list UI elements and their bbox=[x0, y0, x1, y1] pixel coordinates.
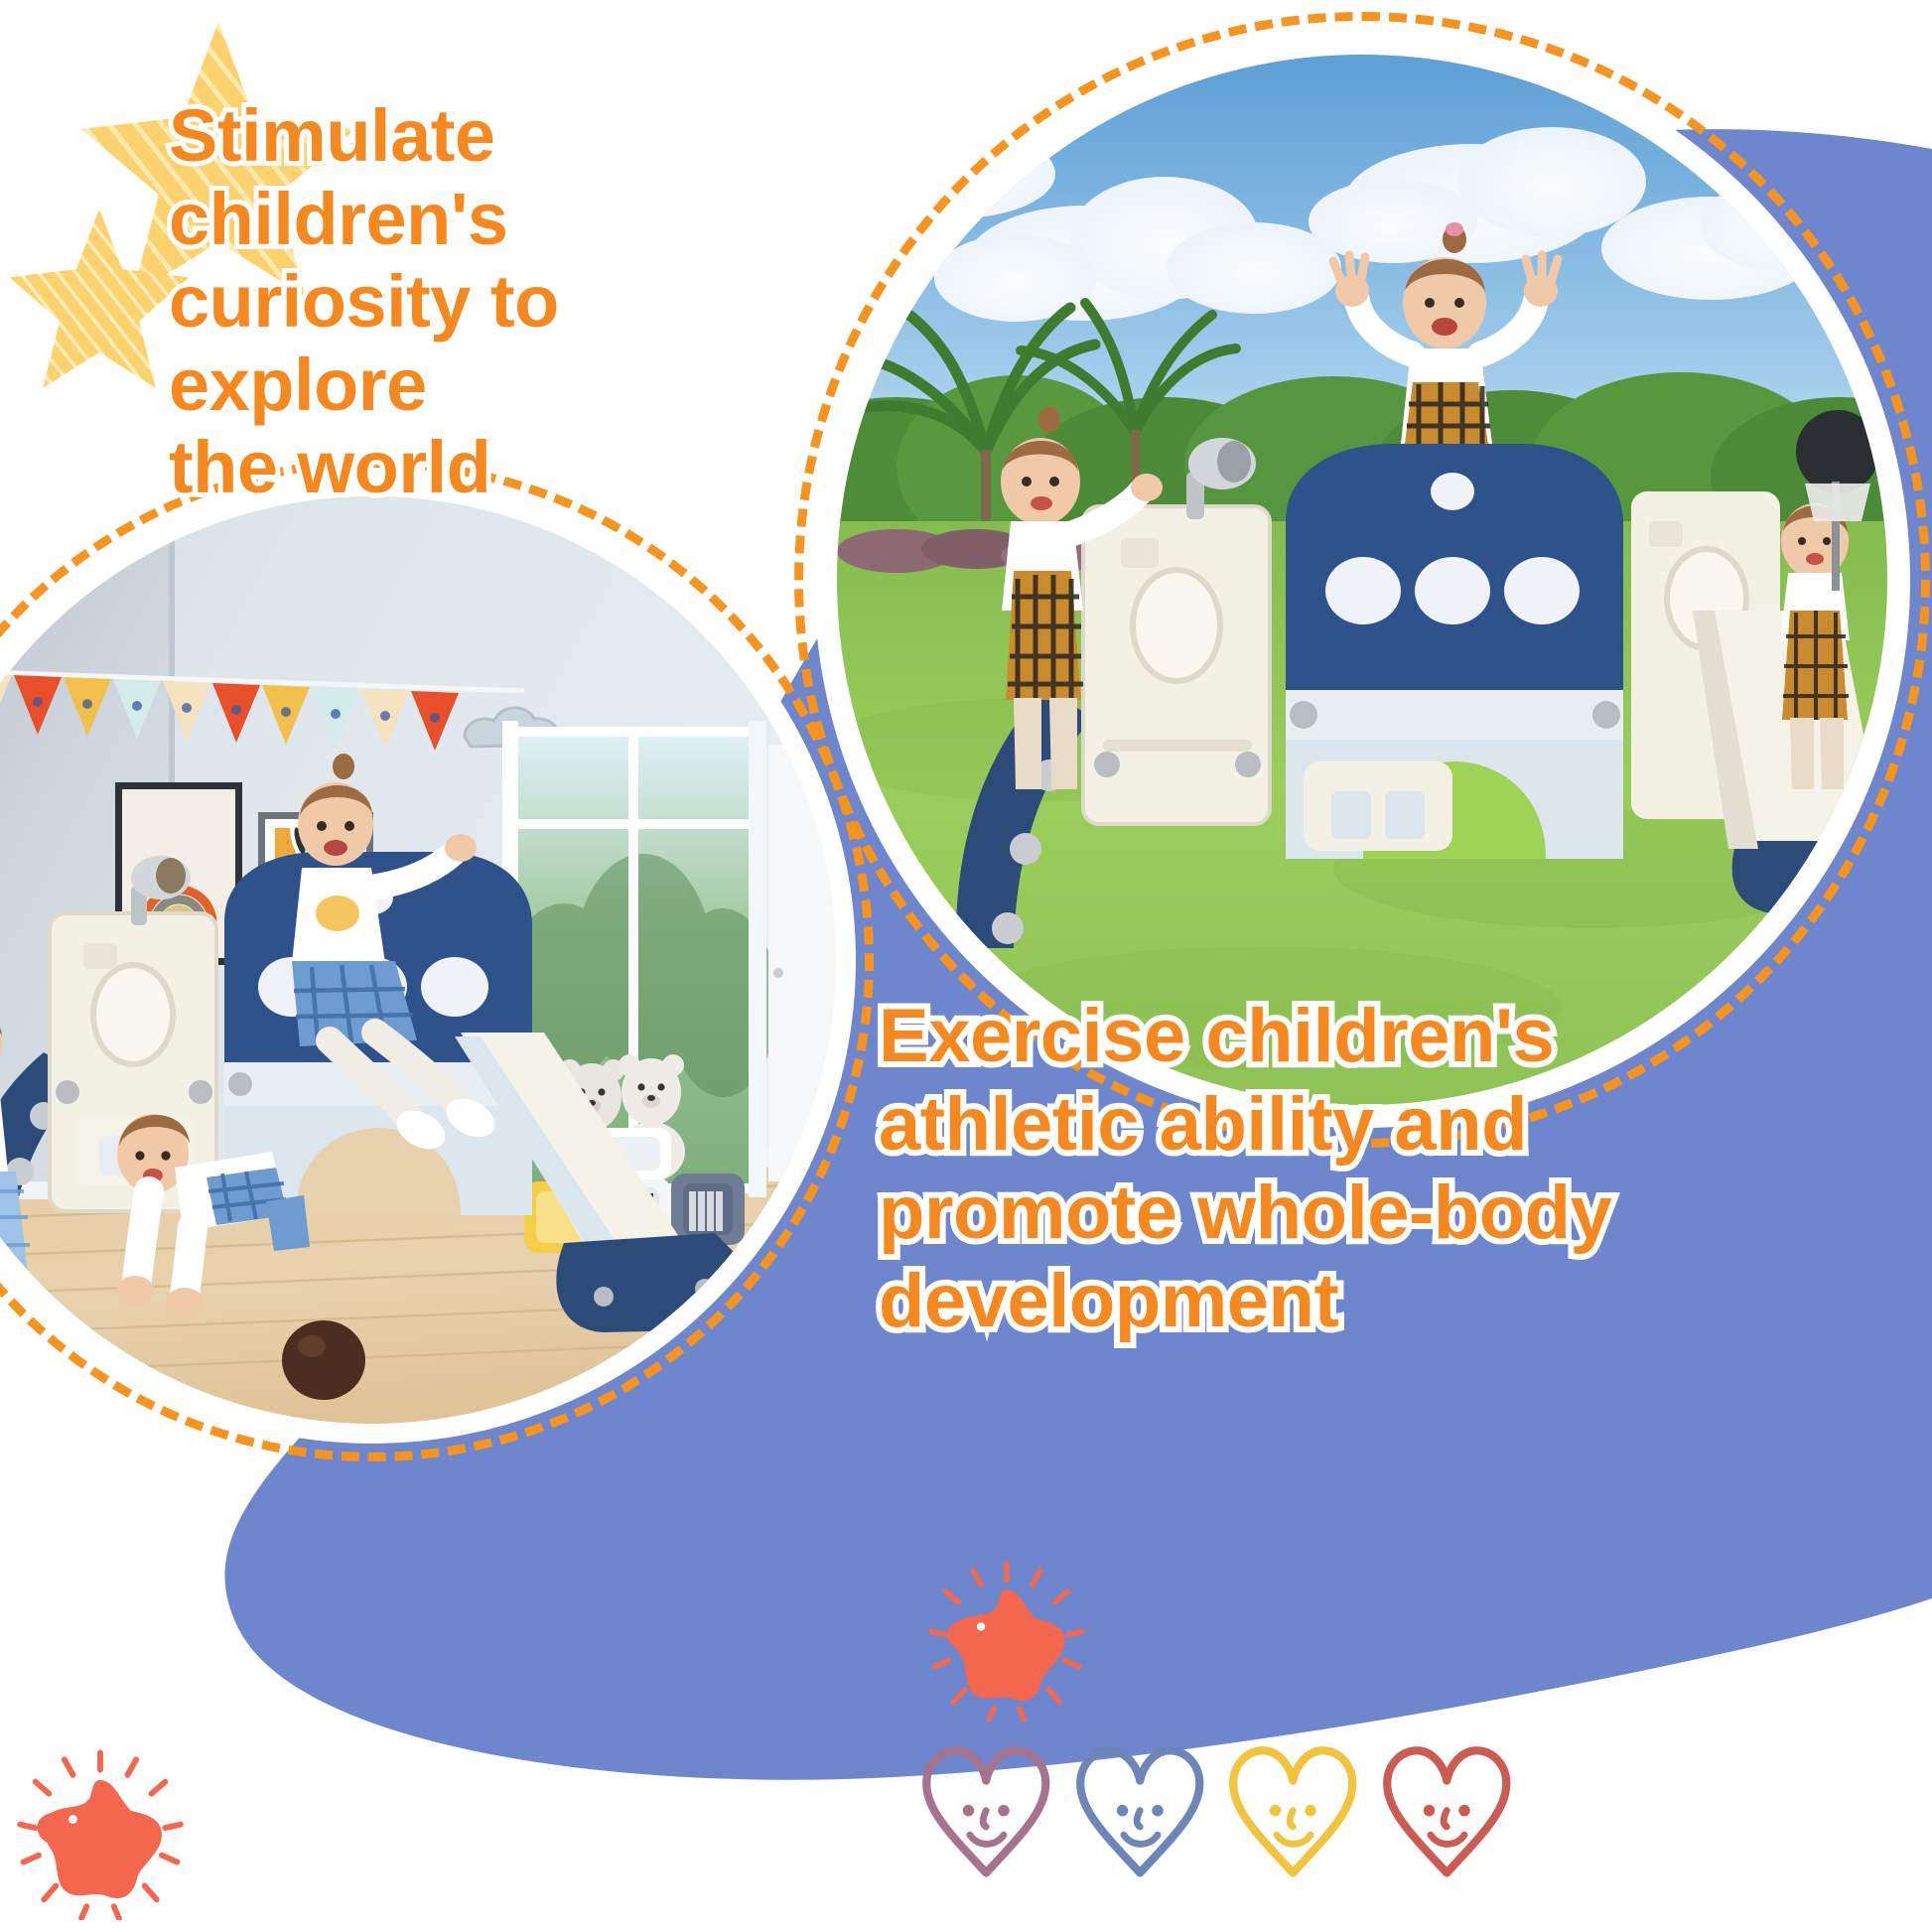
heart-purple-icon bbox=[918, 1737, 1054, 1886]
caption-line-2: athletic ability and bbox=[879, 1081, 1891, 1170]
headline-text: Stimulate children's curiosity to explor… bbox=[169, 94, 824, 509]
heart-blue-icon bbox=[1072, 1737, 1208, 1886]
outdoor-photo bbox=[837, 55, 1887, 1105]
indoor-photo bbox=[0, 496, 836, 1424]
infographic-canvas: Stimulate children's curiosity to explor… bbox=[0, 0, 1932, 1932]
headline-line-3: the world bbox=[169, 426, 824, 509]
caption-line-4: development bbox=[879, 1258, 1891, 1346]
doodle-star-center bbox=[923, 1561, 1090, 1722]
heart-red-icon bbox=[1379, 1737, 1515, 1886]
caption-line-1: Exercise children's bbox=[879, 993, 1891, 1081]
heart-yellow-icon bbox=[1225, 1737, 1361, 1886]
doodle-star-bottom-left bbox=[12, 1749, 189, 1920]
headline-line-1: Stimulate children's bbox=[169, 94, 824, 260]
caption-line-3: promote whole-body bbox=[879, 1170, 1891, 1258]
headline-line-2: curiosity to explore bbox=[169, 260, 824, 426]
caption-text: Exercise children's athletic ability and… bbox=[879, 993, 1891, 1346]
